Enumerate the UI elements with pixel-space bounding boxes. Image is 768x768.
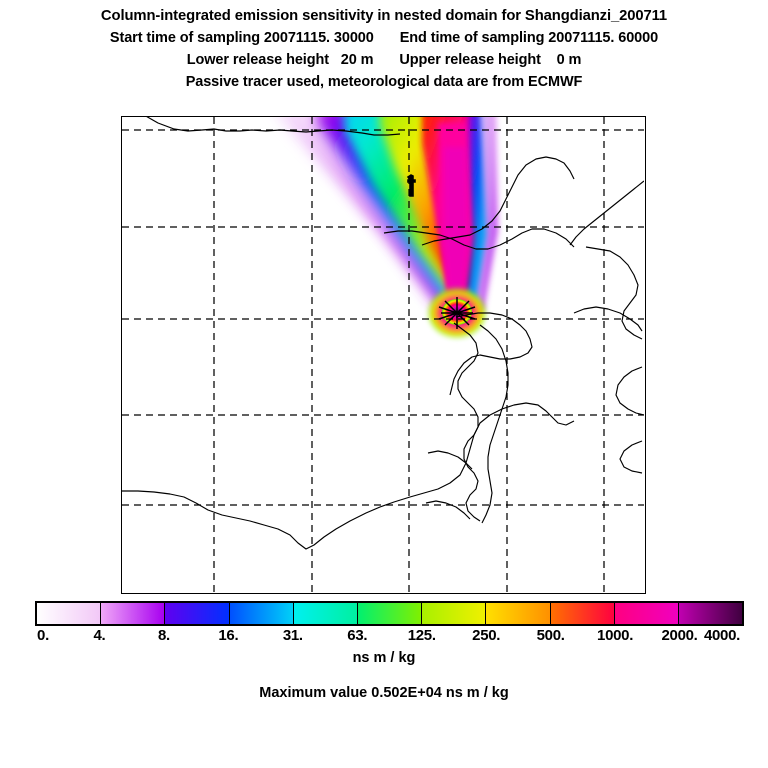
colorbar-segment[interactable]: [551, 603, 615, 624]
coastline-japan-south: [616, 367, 644, 415]
colorbar-tick-label: 4.: [93, 627, 105, 644]
colorbar-segment[interactable]: [615, 603, 679, 624]
coastline-inland-south: [122, 403, 574, 549]
colorbar-unit-label: ns m / kg: [0, 650, 768, 666]
start-time-label: Start time of sampling: [110, 30, 260, 46]
start-time-group: Start time of sampling 20071115. 30000: [110, 27, 374, 49]
page-title: Column-integrated emission sensitivity i…: [0, 0, 768, 27]
colorbar-tick-label: 0.: [37, 627, 49, 644]
colorbar-tick-label: 4000.: [704, 627, 740, 644]
map-canvas: [122, 117, 644, 592]
upper-release-value: 0 m: [557, 52, 582, 68]
colorbar-segment[interactable]: [294, 603, 358, 624]
start-time-value: 20071115. 30000: [264, 30, 374, 46]
colorbar-tick-label: 16.: [218, 627, 238, 644]
coastline-japan-main: [586, 247, 642, 339]
colorbar-segment[interactable]: [486, 603, 550, 624]
colorbar-tick-label: 8.: [158, 627, 170, 644]
colorbar-segment[interactable]: [101, 603, 165, 624]
release-height-line: Lower release height 20 mUpper release h…: [0, 49, 768, 71]
colorbar-tick-label: 125.: [408, 627, 436, 644]
colorbar-tick-label: 2000.: [662, 627, 698, 644]
colorbar-segment[interactable]: [679, 603, 742, 624]
lower-release-label: Lower release height: [187, 52, 329, 68]
colorbar-tick-labels: 0.4.8.16.31.63.125.250.500.1000.2000.400…: [35, 627, 744, 649]
coastline-korea-inlet-b: [426, 501, 470, 519]
lower-release-value: 20 m: [341, 52, 374, 68]
upper-release-label: Upper release height: [399, 52, 540, 68]
colorbar-tick-label: 1000.: [597, 627, 633, 644]
colorbar-segment[interactable]: [422, 603, 486, 624]
map-plot-area: [121, 116, 646, 594]
colorbar-segment[interactable]: [230, 603, 294, 624]
end-time-label: End time of sampling: [400, 30, 545, 46]
lower-release-group: Lower release height 20 m: [187, 49, 374, 71]
maximum-value-label: Maximum value 0.502E+04 ns m / kg: [0, 685, 768, 701]
colorbar-tick-label: 250.: [472, 627, 500, 644]
figure-header: Column-integrated emission sensitivity i…: [0, 0, 768, 93]
colorbar-segment[interactable]: [358, 603, 422, 624]
colorbar: [35, 601, 744, 626]
sampling-time-line: Start time of sampling 20071115. 30000En…: [0, 27, 768, 49]
colorbar-tick-label: 500.: [537, 627, 565, 644]
coastline-korea-inlet-a: [428, 451, 472, 469]
colorbar-segment[interactable]: [37, 603, 101, 624]
coastline-korea-east: [480, 325, 508, 523]
colorbar-segment[interactable]: [165, 603, 229, 624]
coastline-japan-island: [620, 441, 642, 473]
end-time-group: End time of sampling 20071115. 60000: [400, 27, 658, 49]
coastline-japan-north: [570, 181, 644, 245]
tracer-note: Passive tracer used, meteorological data…: [0, 71, 768, 93]
colorbar-container: 0.4.8.16.31.63.125.250.500.1000.2000.400…: [35, 601, 744, 626]
end-time-value: 20071115. 60000: [548, 30, 658, 46]
colorbar-tick-label: 31.: [283, 627, 303, 644]
colorbar-tick-label: 63.: [347, 627, 367, 644]
upper-release-group: Upper release height 0 m: [399, 49, 581, 71]
coastline-korea-west: [454, 323, 480, 521]
